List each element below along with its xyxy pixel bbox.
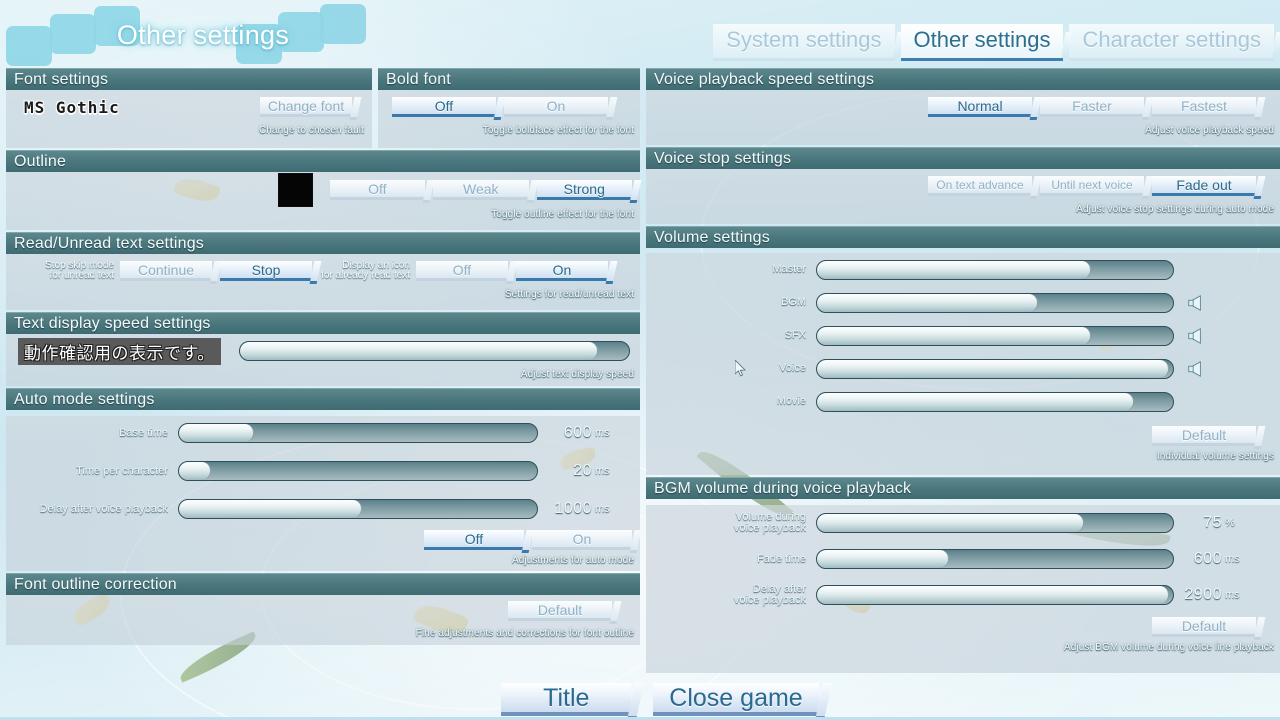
panel-font-settings: Font settings MS Gothic Change font Chan… xyxy=(6,68,372,148)
panel-volume: Volume settings Master BGM SFX xyxy=(646,226,1280,475)
label-time-per-char: Time per character xyxy=(6,466,178,477)
page-title: Other settings xyxy=(88,20,318,51)
settings-tabs: System settings Other settings Character… xyxy=(713,24,1274,61)
hint-volume: Individual volume settings xyxy=(646,450,1280,464)
mouse-cursor xyxy=(735,360,747,378)
value-bgm-delay: 2900 xyxy=(1174,586,1222,604)
section-title-bgm-during-voice: BGM volume during voice playback xyxy=(646,477,1280,499)
label-volume-master: Master xyxy=(646,264,816,275)
read-icon-off-button[interactable]: Off xyxy=(416,261,508,281)
page-title-banner: Other settings xyxy=(0,2,430,64)
section-title-outline: Outline xyxy=(6,150,640,172)
base-time-slider[interactable] xyxy=(178,423,538,443)
skip-stop-button[interactable]: Stop xyxy=(220,261,312,281)
value-time-per-char: 20 xyxy=(538,462,592,480)
hint-font-outline-correction: Fine adjustments and corrections for fon… xyxy=(6,627,640,641)
panel-font-outline-correction: Font outline correction Default Fine adj… xyxy=(6,573,640,645)
voice-speed-faster-button[interactable]: Faster xyxy=(1040,97,1144,117)
font-name-preview: MS Gothic xyxy=(6,98,120,117)
unit-bgm-volume: % xyxy=(1222,517,1235,529)
outline-weak-button[interactable]: Weak xyxy=(433,180,528,200)
label-volume-voice: Voice xyxy=(646,363,816,374)
panel-voice-speed: Voice playback speed settings Normal Fas… xyxy=(646,68,1280,145)
bgm-delay-after-voice-slider[interactable] xyxy=(816,585,1174,605)
label-bgm-delay-line2: voice playback xyxy=(646,595,816,606)
section-title-font-settings: Font settings xyxy=(6,68,372,90)
bgm-default-button[interactable]: Default xyxy=(1152,617,1256,637)
hint-voice-speed: Adjust voice playback speed xyxy=(646,124,1280,138)
read-icon-on-button[interactable]: On xyxy=(516,261,608,281)
hint-text-speed: Adjust text display speed xyxy=(6,368,640,382)
change-font-button[interactable]: Change font xyxy=(260,97,352,117)
hint-read-unread: Settings for read/unread text xyxy=(6,288,640,302)
label-volume-bgm: BGM xyxy=(646,297,816,308)
left-settings-column: Font settings MS Gothic Change font Chan… xyxy=(6,68,640,647)
auto-mode-on-button[interactable]: On xyxy=(532,530,632,550)
label-bgm-volume-line2: voice playback xyxy=(646,523,816,534)
auto-mode-off-button[interactable]: Off xyxy=(424,530,524,550)
panel-text-speed: Text display speed settings 動作確認用の表示です。 … xyxy=(6,312,640,386)
speaker-icon-bgm[interactable] xyxy=(1186,294,1203,311)
font-and-bold-row: Font settings MS Gothic Change font Chan… xyxy=(6,68,640,150)
section-title-auto-mode: Auto mode settings xyxy=(6,388,640,410)
outline-off-button[interactable]: Off xyxy=(330,180,425,200)
text-speed-preview: 動作確認用の表示です。 xyxy=(18,338,221,365)
section-title-read-unread: Read/Unread text settings xyxy=(6,232,640,254)
title-button[interactable]: Title xyxy=(501,683,631,716)
panel-bold-font: Bold font Off On Toggle boldface effect … xyxy=(378,68,640,148)
label-skip-mode-line2: for unread text xyxy=(12,271,120,281)
footer-buttons: Title Close game xyxy=(0,683,1280,716)
value-base-time: 600 xyxy=(538,424,592,442)
label-read-icon-line2: for already read text xyxy=(320,271,416,281)
close-game-button[interactable]: Close game xyxy=(653,683,818,716)
hint-bold-font: Toggle boldface effect for the font xyxy=(378,124,640,138)
voice-stop-fade-out-button[interactable]: Fade out xyxy=(1152,176,1256,196)
volume-master-slider[interactable] xyxy=(816,260,1174,280)
volume-default-button[interactable]: Default xyxy=(1152,426,1256,446)
label-bgm-fade-time: Fade time xyxy=(646,554,816,565)
section-title-font-outline-correction: Font outline correction xyxy=(6,573,640,595)
unit-base-time: ms xyxy=(592,427,610,439)
tab-system-settings[interactable]: System settings xyxy=(713,24,894,61)
section-title-voice-speed: Voice playback speed settings xyxy=(646,68,1280,90)
tab-character-settings[interactable]: Character settings xyxy=(1069,24,1274,61)
voice-speed-fastest-button[interactable]: Fastest xyxy=(1152,97,1256,117)
label-volume-movie: Movie xyxy=(646,396,816,407)
label-volume-sfx: SFX xyxy=(646,330,816,341)
value-delay-after-voice: 1000 xyxy=(538,500,592,518)
outline-strong-button[interactable]: Strong xyxy=(537,180,632,200)
bgm-volume-during-voice-slider[interactable] xyxy=(816,513,1174,533)
volume-sfx-slider[interactable] xyxy=(816,326,1174,346)
section-title-text-speed: Text display speed settings xyxy=(6,312,640,334)
voice-stop-on-text-advance-button[interactable]: On text advance xyxy=(928,176,1032,196)
panel-read-unread: Read/Unread text settings Stop skip mode… xyxy=(6,232,640,310)
unit-bgm-fade-time: ms xyxy=(1222,553,1240,565)
speaker-icon-sfx[interactable] xyxy=(1186,327,1203,344)
volume-voice-slider[interactable] xyxy=(816,359,1174,379)
tab-other-settings[interactable]: Other settings xyxy=(901,24,1064,61)
bgm-fade-time-slider[interactable] xyxy=(816,549,1174,569)
section-title-volume: Volume settings xyxy=(646,226,1280,248)
time-per-character-slider[interactable] xyxy=(178,461,538,481)
label-delay-after-voice: Delay after voice playback xyxy=(6,504,178,515)
unit-delay-after-voice: ms xyxy=(592,503,610,515)
font-outline-default-button[interactable]: Default xyxy=(508,601,612,621)
hint-outline: Toggle outline effect for the font xyxy=(6,208,640,222)
bold-font-off-button[interactable]: Off xyxy=(392,97,496,117)
voice-stop-until-next-voice-button[interactable]: Until next voice xyxy=(1040,176,1144,196)
hint-auto-mode: Adjustments for auto mode xyxy=(6,554,640,568)
skip-continue-button[interactable]: Continue xyxy=(120,261,212,281)
voice-speed-normal-button[interactable]: Normal xyxy=(928,97,1032,117)
panel-outline: Outline Off Weak Strong Toggle outline e… xyxy=(6,150,640,230)
bold-font-on-button[interactable]: On xyxy=(504,97,608,117)
section-title-voice-stop: Voice stop settings xyxy=(646,147,1280,169)
delay-after-voice-slider[interactable] xyxy=(178,499,538,519)
value-bgm-volume: 75 xyxy=(1174,514,1222,532)
volume-movie-slider[interactable] xyxy=(816,392,1174,412)
hint-bgm-during-voice: Adjust BGM volume during voice line play… xyxy=(646,641,1280,655)
panel-auto-mode: Auto mode settings Base time 600 ms Time… xyxy=(6,388,640,571)
panel-bgm-during-voice: BGM volume during voice playback Volume … xyxy=(646,477,1280,673)
text-speed-slider[interactable] xyxy=(239,341,630,361)
hint-voice-stop: Adjust voice stop settings during auto m… xyxy=(646,203,1280,217)
hint-change-font: Change to chosen fault xyxy=(6,124,372,138)
speaker-icon-voice[interactable] xyxy=(1186,360,1203,377)
value-bgm-fade-time: 600 xyxy=(1174,550,1222,568)
unit-time-per-char: ms xyxy=(592,465,610,477)
panel-voice-stop: Voice stop settings On text advance Unti… xyxy=(646,147,1280,224)
unit-bgm-delay: ms xyxy=(1222,589,1240,601)
label-base-time: Base time xyxy=(6,428,178,439)
section-title-bold-font: Bold font xyxy=(378,68,640,90)
volume-bgm-slider[interactable] xyxy=(816,293,1174,313)
outline-color-swatch[interactable] xyxy=(278,173,313,207)
